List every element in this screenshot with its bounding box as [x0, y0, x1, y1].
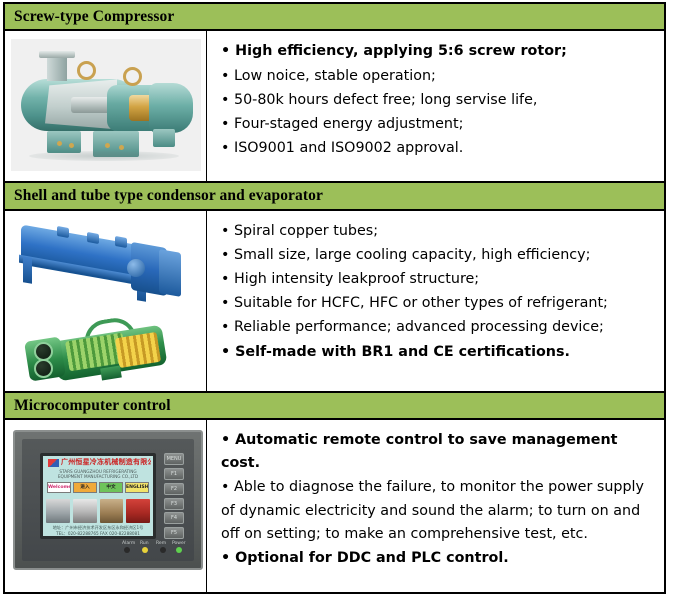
compressor-lifting-ring: [123, 67, 142, 86]
section-header-label: Screw-type Compressor: [5, 4, 664, 29]
compressor-lifting-ring: [77, 61, 96, 80]
screen-button-welcome[interactable]: Welcome: [47, 482, 71, 493]
feature-bullet: • Reliable performance; advanced process…: [221, 316, 656, 339]
evaporator-water-port: [34, 359, 53, 378]
condenser-evaporator-image-cell: [5, 211, 207, 391]
run-led-label: Run: [140, 541, 149, 546]
condenser-end-cap: [159, 249, 181, 297]
compressor-top-flange: [39, 51, 75, 58]
panel-screen-bezel: 广州恒星冷冻机械制造有限公司 STARS GUANGZHOU REFRIGERA…: [40, 453, 156, 539]
microcomputer-feature-list: • Automatic remote control to save manag…: [207, 420, 664, 592]
company-logo-icon: [48, 459, 59, 467]
feature-bullet: • Four-staged energy adjustment;: [221, 113, 656, 136]
screen-contact: TEL：020-82288765 FAX 020-82288081 www.hs…: [46, 531, 150, 536]
product-thumbnail: [126, 499, 150, 523]
panel-touchscreen[interactable]: 广州恒星冷冻机械制造有限公司 STARS GUANGZHOU REFRIGERA…: [43, 456, 153, 536]
feature-bullet: • ISO9001 and ISO9002 approval.: [221, 137, 656, 160]
feature-bullet: • High intensity leakproof structure;: [221, 268, 656, 291]
function-key-f1[interactable]: F1: [164, 468, 184, 480]
condenser-port: [127, 259, 145, 277]
feature-bullet: • Small size, large cooling capacity, hi…: [221, 244, 656, 267]
section-body-microcomputer: 广州恒星冷冻机械制造有限公司 STARS GUANGZHOU REFRIGERA…: [5, 420, 664, 592]
feature-bullet: • High efficiency, applying 5:6 screw ro…: [221, 40, 656, 63]
screen-address: 地址：广州市经济技术开发区东区永和经济区1号: [46, 525, 150, 530]
alarm-led-label: Alarm: [122, 541, 135, 546]
compressor-image-cell: [5, 31, 207, 181]
power-led-indicator: [176, 547, 182, 553]
condenser-nozzle: [87, 232, 99, 244]
section-header-label: Microcomputer control: [5, 393, 664, 418]
feature-bullet: • Automatic remote control to save manag…: [221, 429, 656, 475]
remote-led-indicator: [160, 547, 166, 553]
section-header-compressor: Screw-type Compressor: [5, 4, 664, 31]
condenser-evaporator-feature-list: • Spiral copper tubes; • Small size, lar…: [207, 211, 664, 391]
screw-compressor-photo: [11, 39, 201, 171]
product-thumbnail: [73, 499, 97, 523]
feature-bullet: • Self-made with BR1 and CE certificatio…: [221, 341, 656, 364]
evaporator-water-port: [34, 342, 53, 361]
power-led-label: Power: [172, 541, 186, 546]
product-thumbnail: [46, 499, 70, 523]
compressor-shadow: [29, 151, 179, 161]
function-key-f3[interactable]: F3: [164, 498, 184, 510]
run-led-indicator: [142, 547, 148, 553]
function-key-f5[interactable]: F5: [164, 527, 184, 539]
condenser-nozzle: [57, 226, 69, 238]
compressor-mount-foot: [47, 131, 81, 153]
compressor-feature-list: • High efficiency, applying 5:6 screw ro…: [207, 31, 664, 181]
function-key-f2[interactable]: F2: [164, 483, 184, 495]
evaporator-foot: [100, 365, 122, 380]
screen-company-subtitle: STARS GUANGZHOU REFRIGERATING EQUIPMENT …: [47, 469, 149, 479]
screen-button-english[interactable]: ENGLISH: [125, 482, 149, 493]
screen-button-enter[interactable]: 进入: [73, 482, 97, 493]
control-panel-image-cell: 广州恒星冷冻机械制造有限公司 STARS GUANGZHOU REFRIGERA…: [5, 420, 207, 592]
feature-bullet: • Able to diagnose the failure, to monit…: [221, 476, 656, 545]
alarm-led-indicator: [124, 547, 130, 553]
screen-button-chinese[interactable]: 中文: [99, 482, 123, 493]
microcomputer-control-panel-photo: 广州恒星冷冻机械制造有限公司 STARS GUANGZHOU REFRIGERA…: [13, 430, 203, 570]
panel-function-key-column: MENU F1 F2 F3 F4 F5: [164, 453, 184, 539]
section-header-label: Shell and tube type condensor and evapor…: [5, 183, 664, 208]
feature-bullet: • Suitable for HCFC, HFC or other types …: [221, 292, 656, 315]
section-header-microcomputer: Microcomputer control: [5, 393, 664, 420]
compressor-mount-foot: [153, 129, 175, 147]
function-key-f4[interactable]: F4: [164, 512, 184, 524]
shell-tube-condenser-photo: [9, 217, 203, 313]
product-spec-sheet: Screw-type Compressor: [0, 0, 675, 593]
screen-product-thumbnails: [46, 495, 150, 523]
remote-led-label: Rem: [156, 541, 166, 546]
screen-company-title: 广州恒星冷冻机械制造有限公司: [61, 458, 151, 467]
condenser-nozzle: [115, 236, 127, 248]
evaporator-tube-bundle-copper: [115, 332, 161, 368]
section-body-compressor: • High efficiency, applying 5:6 screw ro…: [5, 31, 664, 183]
screen-button-row: Welcome 进入 中文 ENGLISH: [47, 482, 149, 491]
feature-bullet: • 50-80k hours defect free; long servise…: [221, 89, 656, 112]
shell-tube-evaporator-photo: [9, 311, 203, 391]
section-body-condenser-evaporator: • Spiral copper tubes; • Small size, lar…: [5, 211, 664, 393]
section-header-condenser-evaporator: Shell and tube type condensor and evapor…: [5, 183, 664, 210]
product-thumbnail: [100, 499, 124, 523]
compressor-illustration: [11, 39, 201, 171]
spec-table: Screw-type Compressor: [3, 2, 666, 594]
compressor-oil-separator: [149, 83, 193, 133]
condenser-leg: [23, 256, 32, 284]
function-key-menu[interactable]: MENU: [164, 453, 184, 465]
panel-indicator-row: Alarm Run Rem Power: [122, 539, 184, 553]
feature-bullet: • Spiral copper tubes;: [221, 220, 656, 243]
feature-bullet: • Optional for DDC and PLC control.: [221, 547, 656, 570]
panel-face: 广州恒星冷冻机械制造有限公司 STARS GUANGZHOU REFRIGERA…: [22, 439, 194, 561]
feature-bullet: • Low noice, stable operation;: [221, 65, 656, 88]
compressor-suction-port: [47, 55, 67, 81]
